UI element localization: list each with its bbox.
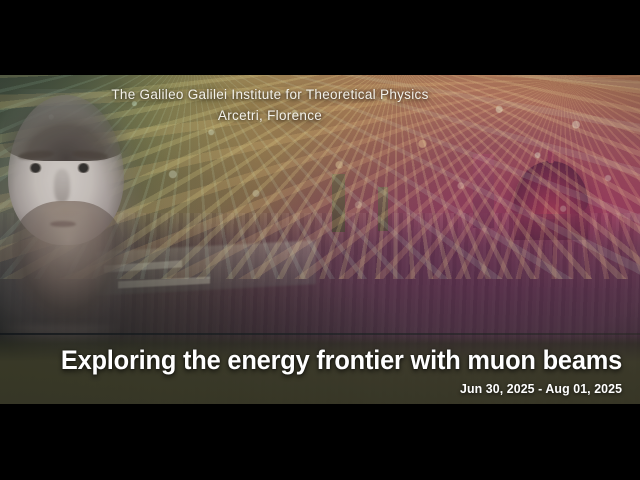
event-dates: Jun 30, 2025 - Aug 01, 2025 (55, 381, 622, 396)
event-title: Exploring the energy frontier with muon … (61, 346, 622, 376)
institute-location-line: Arcetri, Florence (0, 108, 540, 123)
institute-title-line: The Galileo Galilei Institute for Theore… (0, 87, 540, 102)
title-block: Exploring the energy frontier with muon … (25, 346, 622, 396)
letterbox-bottom (0, 404, 640, 480)
letterbox-top (0, 0, 640, 75)
institute-header: The Galileo Galilei Institute for Theore… (0, 87, 640, 123)
artwork-canvas: The Galileo Galilei Institute for Theore… (0, 75, 640, 404)
banner-image: The Galileo Galilei Institute for Theore… (0, 0, 640, 480)
